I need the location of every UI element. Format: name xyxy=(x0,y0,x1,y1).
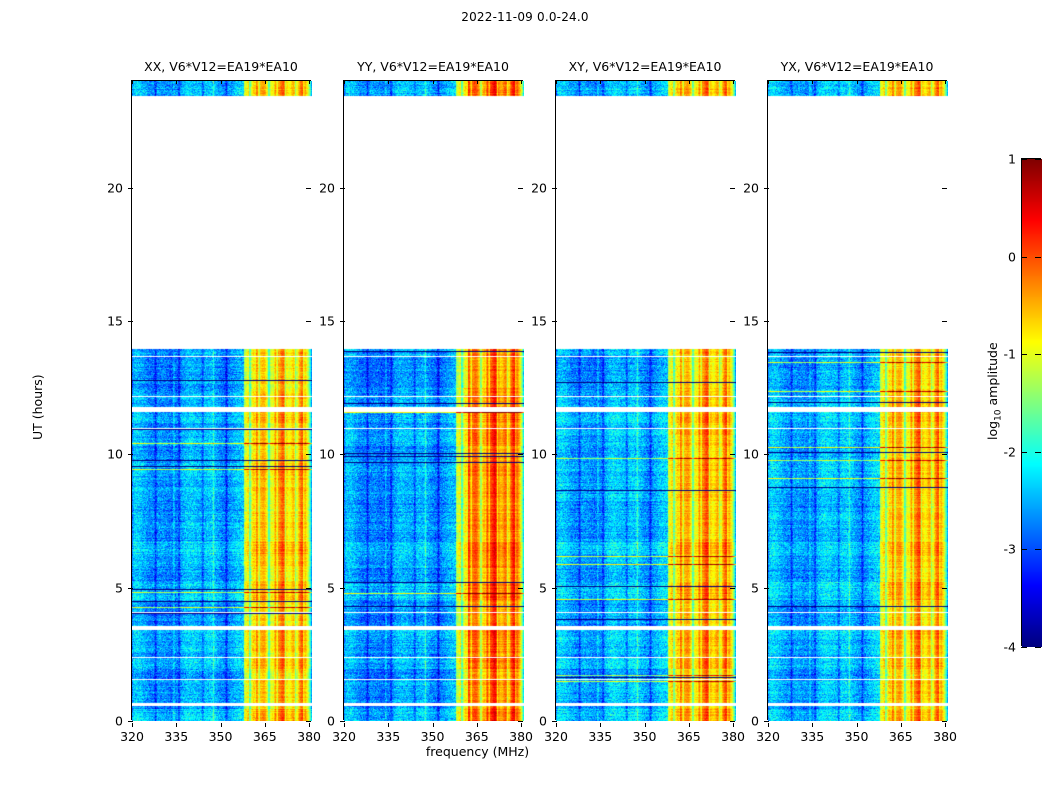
y-axis-tick-label: 15 xyxy=(531,314,547,329)
x-axis-tick xyxy=(768,723,769,727)
y-axis-tick-label: 5 xyxy=(539,580,547,595)
x-axis-tick-top xyxy=(689,80,690,84)
y-axis-tick-right xyxy=(942,321,947,322)
waterfall-image-xy xyxy=(556,81,736,721)
y-axis-tick xyxy=(764,188,769,189)
x-axis-tick xyxy=(221,723,222,727)
x-axis-tick-top xyxy=(344,80,345,84)
x-axis-tick-top xyxy=(556,80,557,84)
y-axis-tick-right xyxy=(942,588,947,589)
x-axis-tick xyxy=(176,723,177,727)
y-axis-tick-right xyxy=(730,321,735,322)
panel-xx[interactable]: XX, V6*V12=EA19*EA10 3203353503653800510… xyxy=(131,80,311,720)
y-axis-tick-right xyxy=(730,588,735,589)
y-axis-tick-right xyxy=(730,454,735,455)
waterfall-image-xx xyxy=(132,81,312,721)
x-axis-tick-top xyxy=(221,80,222,84)
y-axis-tick-label: 5 xyxy=(115,580,123,595)
x-axis-tick xyxy=(556,723,557,727)
y-axis-tick xyxy=(128,721,133,722)
x-axis-tick-label: 380 xyxy=(933,729,957,744)
y-axis-tick-right xyxy=(306,588,311,589)
y-axis-tick-label: 15 xyxy=(107,314,123,329)
y-axis-tick xyxy=(764,721,769,722)
y-axis-tick-right xyxy=(518,721,523,722)
y-axis-tick-label: 0 xyxy=(751,714,759,729)
x-axis-tick xyxy=(600,723,601,727)
y-axis-tick xyxy=(128,588,133,589)
y-axis-tick-label: 0 xyxy=(115,714,123,729)
colorbar-tick-right xyxy=(1035,257,1041,258)
y-axis-tick-right xyxy=(306,321,311,322)
x-axis-tick-label: 365 xyxy=(253,729,277,744)
x-axis-tick-top xyxy=(521,80,522,84)
x-axis-tick-label: 380 xyxy=(297,729,321,744)
y-axis-label: UT (hours) xyxy=(30,374,45,440)
y-axis-tick-right xyxy=(518,588,523,589)
x-axis-label: frequency (MHz) xyxy=(0,744,955,759)
x-axis-tick xyxy=(309,723,310,727)
x-axis-tick-label: 320 xyxy=(120,729,144,744)
x-axis-tick xyxy=(344,723,345,727)
x-axis-tick-top xyxy=(176,80,177,84)
x-axis-tick-label: 335 xyxy=(164,729,188,744)
y-axis-tick-label: 10 xyxy=(319,447,335,462)
y-axis-tick-right xyxy=(306,721,311,722)
colorbar-tick-label: 1 xyxy=(1008,152,1016,167)
x-axis-tick-label: 380 xyxy=(721,729,745,744)
y-axis-tick xyxy=(552,188,557,189)
figure-canvas: 2022-11-09 0.0-24.0 XX, V6*V12=EA19*EA10… xyxy=(0,0,1050,800)
x-axis-tick xyxy=(901,723,902,727)
y-axis-tick xyxy=(552,588,557,589)
x-axis-tick-top xyxy=(812,80,813,84)
y-axis-tick xyxy=(764,321,769,322)
x-axis-tick xyxy=(521,723,522,727)
y-axis-tick-right xyxy=(942,188,947,189)
y-axis-tick xyxy=(128,188,133,189)
y-axis-tick xyxy=(128,321,133,322)
x-axis-tick-top xyxy=(768,80,769,84)
waterfall-image-yx xyxy=(768,81,948,721)
colorbar-tick-label: -3 xyxy=(1004,542,1016,557)
panel-title-xx: XX, V6*V12=EA19*EA10 xyxy=(144,59,298,74)
x-axis-tick-label: 320 xyxy=(756,729,780,744)
colorbar[interactable]: -4-3-2-101 xyxy=(1021,158,1041,646)
colorbar-tick-label: -2 xyxy=(1004,444,1016,459)
y-axis-tick-label: 10 xyxy=(743,447,759,462)
x-axis-tick-top xyxy=(265,80,266,84)
y-axis-tick xyxy=(764,588,769,589)
x-axis-tick-label: 350 xyxy=(845,729,869,744)
x-axis-tick-top xyxy=(600,80,601,84)
x-axis-tick-label: 350 xyxy=(421,729,445,744)
x-axis-tick-label: 365 xyxy=(677,729,701,744)
figure-suptitle: 2022-11-09 0.0-24.0 xyxy=(0,10,1050,24)
x-axis-tick-top xyxy=(645,80,646,84)
y-axis-tick-right xyxy=(730,188,735,189)
y-axis-tick xyxy=(340,454,345,455)
y-axis-tick-label: 15 xyxy=(743,314,759,329)
y-axis-tick xyxy=(340,588,345,589)
x-axis-tick-top xyxy=(132,80,133,84)
x-axis-tick-top xyxy=(309,80,310,84)
colorbar-tick-right xyxy=(1035,647,1041,648)
colorbar-tick xyxy=(1021,159,1027,160)
x-axis-tick-top xyxy=(433,80,434,84)
x-axis-tick-label: 335 xyxy=(588,729,612,744)
colorbar-tick-label: -4 xyxy=(1004,640,1016,655)
x-axis-tick xyxy=(132,723,133,727)
y-axis-tick-right xyxy=(942,721,947,722)
x-axis-tick-label: 350 xyxy=(633,729,657,744)
x-axis-tick-label: 320 xyxy=(332,729,356,744)
colorbar-tick xyxy=(1021,647,1027,648)
panel-title-yx: YX, V6*V12=EA19*EA10 xyxy=(781,59,934,74)
y-axis-tick-right xyxy=(730,721,735,722)
colorbar-gradient xyxy=(1022,159,1042,647)
panel-title-yy: YY, V6*V12=EA19*EA10 xyxy=(357,59,509,74)
y-axis-tick xyxy=(340,188,345,189)
y-axis-tick xyxy=(552,321,557,322)
y-axis-tick-label: 15 xyxy=(319,314,335,329)
panel-yx[interactable]: YX, V6*V12=EA19*EA10 3203353503653800510… xyxy=(767,80,947,720)
panel-xy[interactable]: XY, V6*V12=EA19*EA10 3203353503653800510… xyxy=(555,80,735,720)
x-axis-tick-label: 335 xyxy=(376,729,400,744)
y-axis-tick-label: 20 xyxy=(743,180,759,195)
colorbar-tick-right xyxy=(1035,549,1041,550)
colorbar-label: log10 amplitude xyxy=(985,342,1004,440)
x-axis-tick xyxy=(433,723,434,727)
colorbar-tick-right xyxy=(1035,452,1041,453)
colorbar-tick xyxy=(1021,257,1027,258)
y-axis-tick-label: 20 xyxy=(319,180,335,195)
y-axis-tick xyxy=(764,454,769,455)
waterfall-image-yy xyxy=(344,81,524,721)
y-axis-tick xyxy=(552,454,557,455)
x-axis-tick-top xyxy=(388,80,389,84)
y-axis-tick-label: 0 xyxy=(539,714,547,729)
y-axis-tick xyxy=(340,721,345,722)
x-axis-tick-label: 350 xyxy=(209,729,233,744)
x-axis-tick xyxy=(645,723,646,727)
x-axis-tick xyxy=(477,723,478,727)
y-axis-tick xyxy=(552,721,557,722)
x-axis-tick-label: 380 xyxy=(509,729,533,744)
x-axis-tick-top xyxy=(857,80,858,84)
panel-title-xy: XY, V6*V12=EA19*EA10 xyxy=(569,59,722,74)
y-axis-tick-label: 5 xyxy=(751,580,759,595)
colorbar-tick-right xyxy=(1035,354,1041,355)
colorbar-tick-right xyxy=(1035,159,1041,160)
y-axis-tick-label: 20 xyxy=(531,180,547,195)
panel-yy[interactable]: YY, V6*V12=EA19*EA10 3203353503653800510… xyxy=(343,80,523,720)
colorbar-tick xyxy=(1021,354,1027,355)
x-axis-tick-top xyxy=(901,80,902,84)
x-axis-tick-label: 365 xyxy=(465,729,489,744)
y-axis-tick-right xyxy=(942,454,947,455)
x-axis-tick xyxy=(265,723,266,727)
y-axis-tick-label: 0 xyxy=(327,714,335,729)
y-axis-tick-label: 10 xyxy=(107,447,123,462)
y-axis-tick-right xyxy=(518,188,523,189)
colorbar-tick xyxy=(1021,549,1027,550)
y-axis-tick-label: 5 xyxy=(327,580,335,595)
x-axis-tick xyxy=(689,723,690,727)
x-axis-tick-label: 365 xyxy=(889,729,913,744)
colorbar-tick xyxy=(1021,452,1027,453)
y-axis-tick-label: 20 xyxy=(107,180,123,195)
y-axis-tick-right xyxy=(306,188,311,189)
x-axis-tick-top xyxy=(733,80,734,84)
x-axis-tick-label: 335 xyxy=(800,729,824,744)
y-axis-tick xyxy=(128,454,133,455)
x-axis-tick xyxy=(812,723,813,727)
y-axis-tick-right xyxy=(518,321,523,322)
y-axis-tick-label: 10 xyxy=(531,447,547,462)
y-axis-tick-right xyxy=(518,454,523,455)
x-axis-tick xyxy=(857,723,858,727)
x-axis-tick xyxy=(945,723,946,727)
x-axis-tick xyxy=(388,723,389,727)
y-axis-tick xyxy=(340,321,345,322)
colorbar-tick-label: 0 xyxy=(1008,249,1016,264)
x-axis-tick xyxy=(733,723,734,727)
y-axis-tick-right xyxy=(306,454,311,455)
x-axis-tick-top xyxy=(477,80,478,84)
x-axis-tick-top xyxy=(945,80,946,84)
x-axis-tick-label: 320 xyxy=(544,729,568,744)
colorbar-tick-label: -1 xyxy=(1004,347,1016,362)
